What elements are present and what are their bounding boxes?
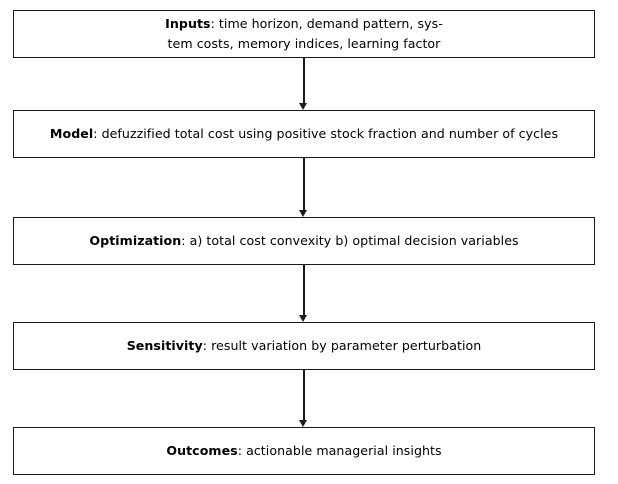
flow-node-optimization-text: Optimization: a) total cost convexity b)… bbox=[79, 231, 528, 251]
flow-node-optimization-description: a) total cost convexity b) optimal decis… bbox=[186, 233, 519, 248]
arrow-down-icon bbox=[299, 420, 307, 427]
flow-node-sensitivity-keyword: Sensitivity bbox=[127, 338, 203, 353]
arrow-line-icon bbox=[303, 58, 305, 103]
flow-node-optimization[interactable]: Optimization: a) total cost convexity b)… bbox=[13, 217, 595, 265]
arrow-down-icon bbox=[299, 103, 307, 110]
flow-node-model-keyword: Model bbox=[50, 126, 93, 141]
flow-arrow-inputs-to-model bbox=[297, 58, 311, 110]
flow-node-outcomes[interactable]: Outcomes: actionable managerial insights bbox=[13, 427, 595, 475]
flow-node-optimization-keyword: Optimization bbox=[89, 233, 181, 248]
flow-node-sensitivity[interactable]: Sensitivity: result variation by paramet… bbox=[13, 322, 595, 370]
flow-arrow-model-to-optimization bbox=[297, 158, 311, 217]
flow-node-outcomes-keyword: Outcomes bbox=[166, 443, 237, 458]
flow-node-model-text: Model: defuzzified total cost using posi… bbox=[40, 124, 568, 144]
flow-node-outcomes-text: Outcomes: actionable managerial insights bbox=[156, 441, 451, 461]
arrow-line-icon bbox=[303, 265, 305, 315]
flow-node-model[interactable]: Model: defuzzified total cost using posi… bbox=[13, 110, 595, 158]
flow-node-inputs-text: Inputs: time horizon, demand pattern, sy… bbox=[155, 14, 453, 53]
flow-arrow-optimization-to-sensitivity bbox=[297, 265, 311, 322]
arrow-line-icon bbox=[303, 370, 305, 420]
arrow-line-icon bbox=[303, 158, 305, 210]
flow-arrow-sensitivity-to-outcomes bbox=[297, 370, 311, 427]
flow-node-inputs[interactable]: Inputs: time horizon, demand pattern, sy… bbox=[13, 10, 595, 58]
flowchart-canvas: Inputs: time horizon, demand pattern, sy… bbox=[0, 0, 618, 484]
flow-node-outcomes-description: actionable managerial insights bbox=[242, 443, 442, 458]
flow-node-inputs-keyword: Inputs bbox=[165, 16, 210, 31]
flow-node-sensitivity-description: result variation by parameter perturbati… bbox=[207, 338, 481, 353]
arrow-down-icon bbox=[299, 315, 307, 322]
flow-node-sensitivity-text: Sensitivity: result variation by paramet… bbox=[117, 336, 492, 356]
arrow-down-icon bbox=[299, 210, 307, 217]
flow-node-model-description: defuzzified total cost using positive st… bbox=[98, 126, 559, 141]
